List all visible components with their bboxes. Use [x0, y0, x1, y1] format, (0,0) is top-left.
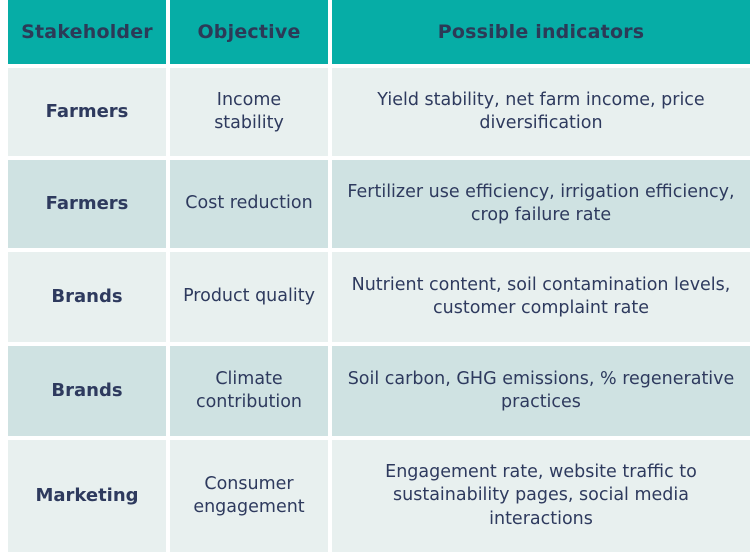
indicator-table-container: Stakeholder Objective Possible indicator… — [0, 0, 754, 527]
cell-stakeholder: Brands — [8, 252, 166, 342]
column-header-indicators: Possible indicators — [332, 0, 750, 64]
column-header-stakeholder: Stakeholder — [8, 0, 166, 64]
cell-stakeholder: Farmers — [8, 68, 166, 156]
cell-stakeholder: Brands — [8, 346, 166, 436]
table-body: Farmers Income stability Yield stability… — [8, 68, 750, 552]
cell-indicators: Nutrient content, soil contamination lev… — [332, 252, 750, 342]
cell-indicators: Yield stability, net farm income, price … — [332, 68, 750, 156]
table-row: Brands Climate contribution Soil carbon,… — [8, 346, 750, 436]
cell-indicators: Fertilizer use efficiency, irrigation ef… — [332, 160, 750, 248]
table-row: Brands Product quality Nutrient content,… — [8, 252, 750, 342]
stakeholder-indicator-table: Stakeholder Objective Possible indicator… — [4, 0, 754, 556]
cell-indicators: Engagement rate, website traffic to sust… — [332, 440, 750, 552]
cell-objective: Income stability — [170, 68, 328, 156]
column-header-objective: Objective — [170, 0, 328, 64]
table-row: Farmers Income stability Yield stability… — [8, 68, 750, 156]
cell-stakeholder: Marketing — [8, 440, 166, 552]
cell-objective: Product quality — [170, 252, 328, 342]
table-header-row: Stakeholder Objective Possible indicator… — [8, 0, 750, 64]
table-header: Stakeholder Objective Possible indicator… — [8, 0, 750, 64]
table-row: Marketing Consumer engagement Engagement… — [8, 440, 750, 552]
cell-indicators: Soil carbon, GHG emissions, % regenerati… — [332, 346, 750, 436]
cell-objective: Consumer engagement — [170, 440, 328, 552]
cell-objective: Cost reduction — [170, 160, 328, 248]
cell-stakeholder: Farmers — [8, 160, 166, 248]
table-row: Farmers Cost reduction Fertilizer use ef… — [8, 160, 750, 248]
cell-objective: Climate contribution — [170, 346, 328, 436]
